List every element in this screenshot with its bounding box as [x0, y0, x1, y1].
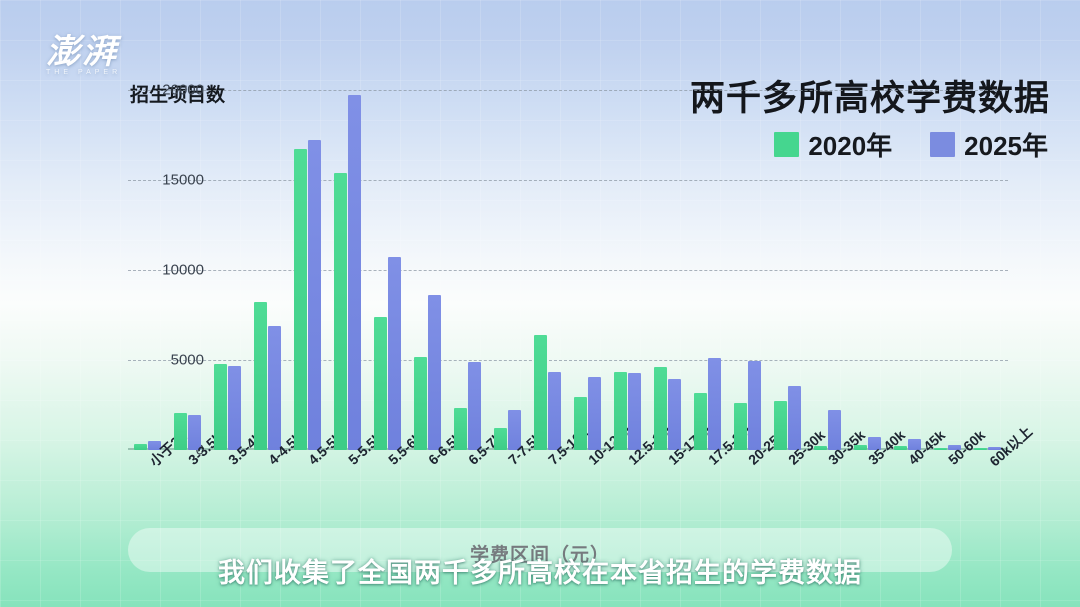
bar-2025年-6-6.5k[interactable] — [428, 295, 441, 450]
bar-2020年-7.5-10k[interactable] — [534, 335, 547, 450]
bar-2025年-15-17.5k[interactable] — [668, 379, 681, 450]
y-axis-tick-label: 5000 — [116, 352, 204, 369]
bar-2025年-4.5-5k[interactable] — [308, 140, 321, 450]
bar-2025年-4-4.5k[interactable] — [268, 326, 281, 450]
bar-2020年-3.5-4k[interactable] — [214, 364, 227, 450]
caption-text: 我们收集了全国两千多所高校在本省招生的学费数据 — [0, 551, 1080, 590]
brand-logo-text: 澎湃 — [46, 24, 186, 73]
bar-2020年-20-25k[interactable] — [734, 403, 747, 450]
bar-2025年-3.5-4k[interactable] — [228, 366, 241, 450]
chart-canvas: 澎湃 THE PAPER 两千多所高校学费数据 2020年 2025年 招生项目… — [0, 0, 1080, 607]
bar-2020年-15-17.5k[interactable] — [654, 367, 667, 450]
bar-2025年-10-12.5k[interactable] — [588, 377, 601, 450]
bar-2025年-25-30k[interactable] — [788, 386, 801, 450]
gridline — [128, 270, 1008, 271]
gridline — [128, 90, 1008, 91]
brand-logo-subtext: THE PAPER — [46, 69, 186, 76]
plot-area: 05000100001500020000小于3k3-3.5k3.5-4k4-4.… — [128, 90, 1008, 450]
brand-logo: 澎湃 THE PAPER — [46, 24, 186, 76]
bar-2025年-5-5.5k[interactable] — [348, 95, 361, 451]
bar-2020年-小于3k[interactable] — [134, 444, 147, 450]
bar-2020年-50-60k[interactable] — [934, 448, 947, 450]
y-axis-tick-label: 10000 — [116, 262, 204, 279]
bar-2020年-17.5-20k[interactable] — [694, 393, 707, 450]
bar-2020年-40-45k[interactable] — [894, 446, 907, 451]
y-axis-tick-label: 20000 — [116, 82, 204, 99]
bar-2020年-6-6.5k[interactable] — [414, 357, 427, 450]
bar-2020年-35-40k[interactable] — [854, 445, 867, 450]
bar-2020年-12.5-15k[interactable] — [614, 372, 627, 450]
bar-2020年-5.5-6k[interactable] — [374, 317, 387, 450]
bar-2025年-5.5-6k[interactable] — [388, 257, 401, 450]
bar-2025年-20-25k[interactable] — [748, 361, 761, 450]
bar-2020年-10-12.5k[interactable] — [574, 397, 587, 450]
bar-2020年-7-7.5k[interactable] — [494, 428, 507, 451]
bar-2020年-4.5-5k[interactable] — [294, 149, 307, 450]
bar-2020年-60k以上[interactable] — [974, 448, 987, 450]
bar-2020年-5-5.5k[interactable] — [334, 173, 347, 450]
bar-2025年-7.5-10k[interactable] — [548, 372, 561, 450]
bar-2020年-4-4.5k[interactable] — [254, 302, 267, 451]
gridline — [128, 180, 1008, 181]
bar-2025年-6.5-7k[interactable] — [468, 362, 481, 450]
bar-2025年-12.5-15k[interactable] — [628, 373, 641, 450]
bar-2020年-6.5-7k[interactable] — [454, 408, 467, 450]
bar-2020年-3-3.5k[interactable] — [174, 413, 187, 450]
bar-2020年-30-35k[interactable] — [814, 446, 827, 451]
y-axis-tick-label: 15000 — [116, 172, 204, 189]
bar-2020年-25-30k[interactable] — [774, 401, 787, 451]
bar-2025年-17.5-20k[interactable] — [708, 358, 721, 450]
